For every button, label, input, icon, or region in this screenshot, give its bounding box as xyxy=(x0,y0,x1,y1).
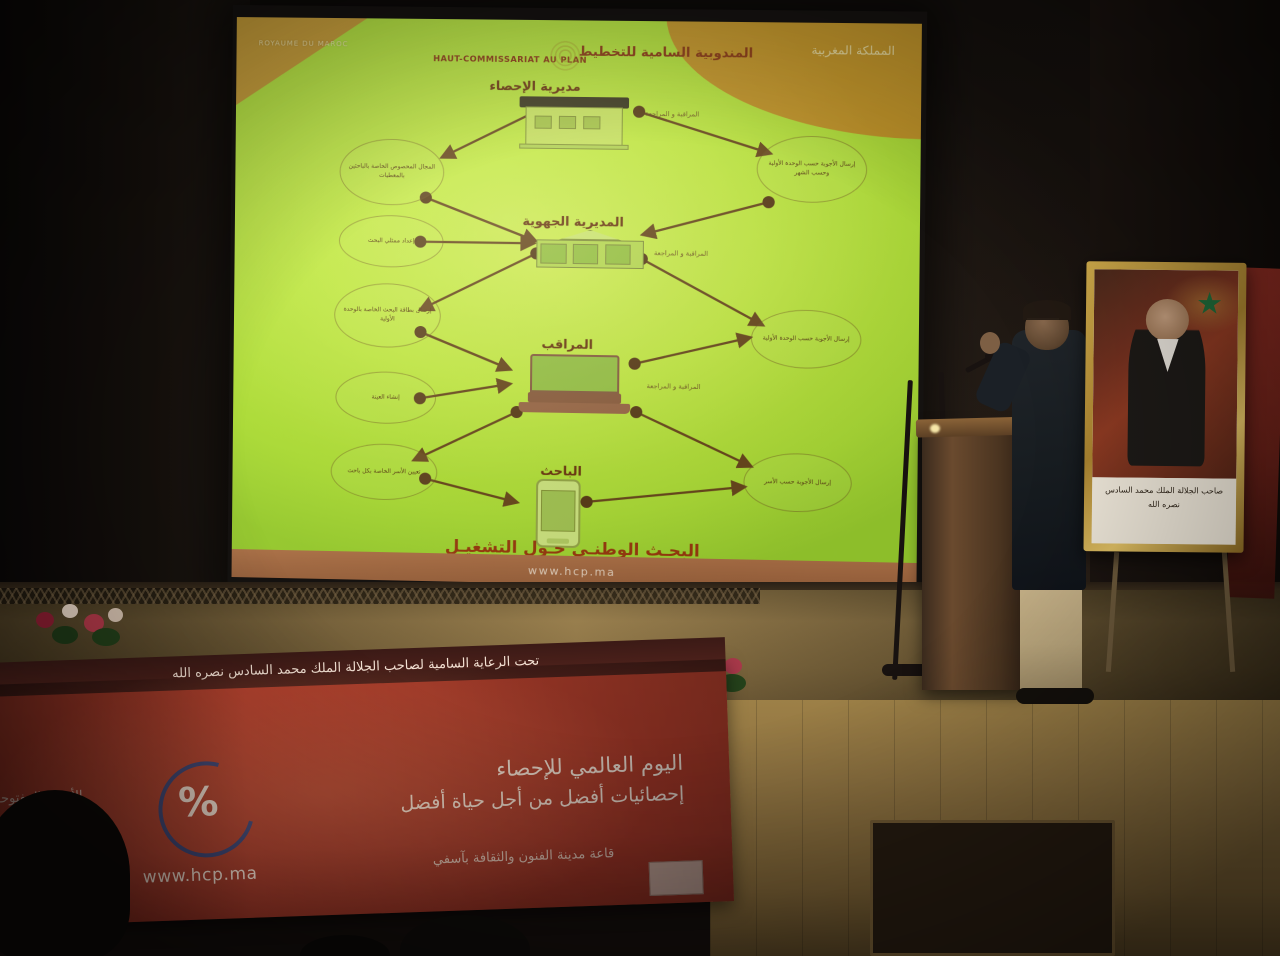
bubble-right-1: إرسال الأجوبة حسب الوحدة الأولية وحسب ال… xyxy=(756,135,867,203)
house-icon xyxy=(536,229,644,271)
photo-scene: ROYAUME DU MAROC المملكة المغربية HAUT-C… xyxy=(0,0,1280,956)
speaker-hand xyxy=(980,332,1000,354)
banner-url: www.hcp.ma xyxy=(142,864,257,888)
speaker-hair xyxy=(1023,300,1071,320)
node-label-controller: المراقب xyxy=(541,336,593,352)
king-portrait-caption: صاحب الجلالة الملك محمد السادس نصره الله xyxy=(1092,477,1237,544)
statistics-day-logo: % xyxy=(157,760,256,859)
laptop-icon xyxy=(519,354,631,414)
edge-label-n3: المراقبة و المراجعة xyxy=(647,382,701,391)
king-portrait-frame: ★ صاحب الجلالة الملك محمد السادس نصره ال… xyxy=(1083,261,1246,553)
slide-url: www.hcp.ma xyxy=(528,564,616,579)
flower-arrangement-left xyxy=(22,588,152,648)
banner-headline: اليوم العالمي للإحصاء إحصائيات أفضل من أ… xyxy=(399,747,685,819)
king-caption-line2: نصره الله xyxy=(1092,497,1236,512)
node-label-regional-directorate: المديرية الجهوية xyxy=(522,213,623,230)
king-portrait-inner: ★ صاحب الجلالة الملك محمد السادس نصره ال… xyxy=(1092,269,1239,544)
king-caption-line1: صاحب الجلالة الملك محمد السادس xyxy=(1092,483,1236,498)
edge-label-n2: المراقبة و المراجعة xyxy=(654,249,708,258)
king-face xyxy=(1146,299,1190,341)
backdrop-left-wall xyxy=(0,0,250,600)
node-label-researcher: الباحث xyxy=(540,463,582,479)
banner-venue-text: قاعة مدينة الفنون والثقافة بآسفي xyxy=(433,846,615,867)
bubble-left-1: المجال المحصوص الخاصة بالباحثين بالمعطيا… xyxy=(339,138,444,206)
moroccan-star-icon: ★ xyxy=(1192,287,1226,321)
percent-icon: % xyxy=(177,779,219,826)
speaker-shoe xyxy=(1016,688,1094,704)
podium-reading-light xyxy=(930,424,940,433)
presentation-slide: ROYAUME DU MAROC المملكة المغربية HAUT-C… xyxy=(232,17,922,591)
building-icon xyxy=(519,96,629,150)
king-portrait-photo: ★ xyxy=(1092,269,1238,479)
audience-silhouette-2 xyxy=(400,915,530,956)
projection-screen: ROYAUME DU MAROC المملكة المغربية HAUT-C… xyxy=(227,5,927,615)
audience-silhouette-3 xyxy=(300,935,390,956)
speaker-glasses xyxy=(1027,318,1059,324)
banner-patronage-text: تحت الرعاية السامية لصاحب الجلالة الملك … xyxy=(172,653,540,681)
node-label-statistics-directorate: مديرية الإحصاء xyxy=(489,78,580,94)
stage-panel-opening xyxy=(870,820,1115,956)
edge-label-n1: المراقبة و المراجعة xyxy=(645,110,699,119)
banner-corner-badge xyxy=(649,860,704,896)
